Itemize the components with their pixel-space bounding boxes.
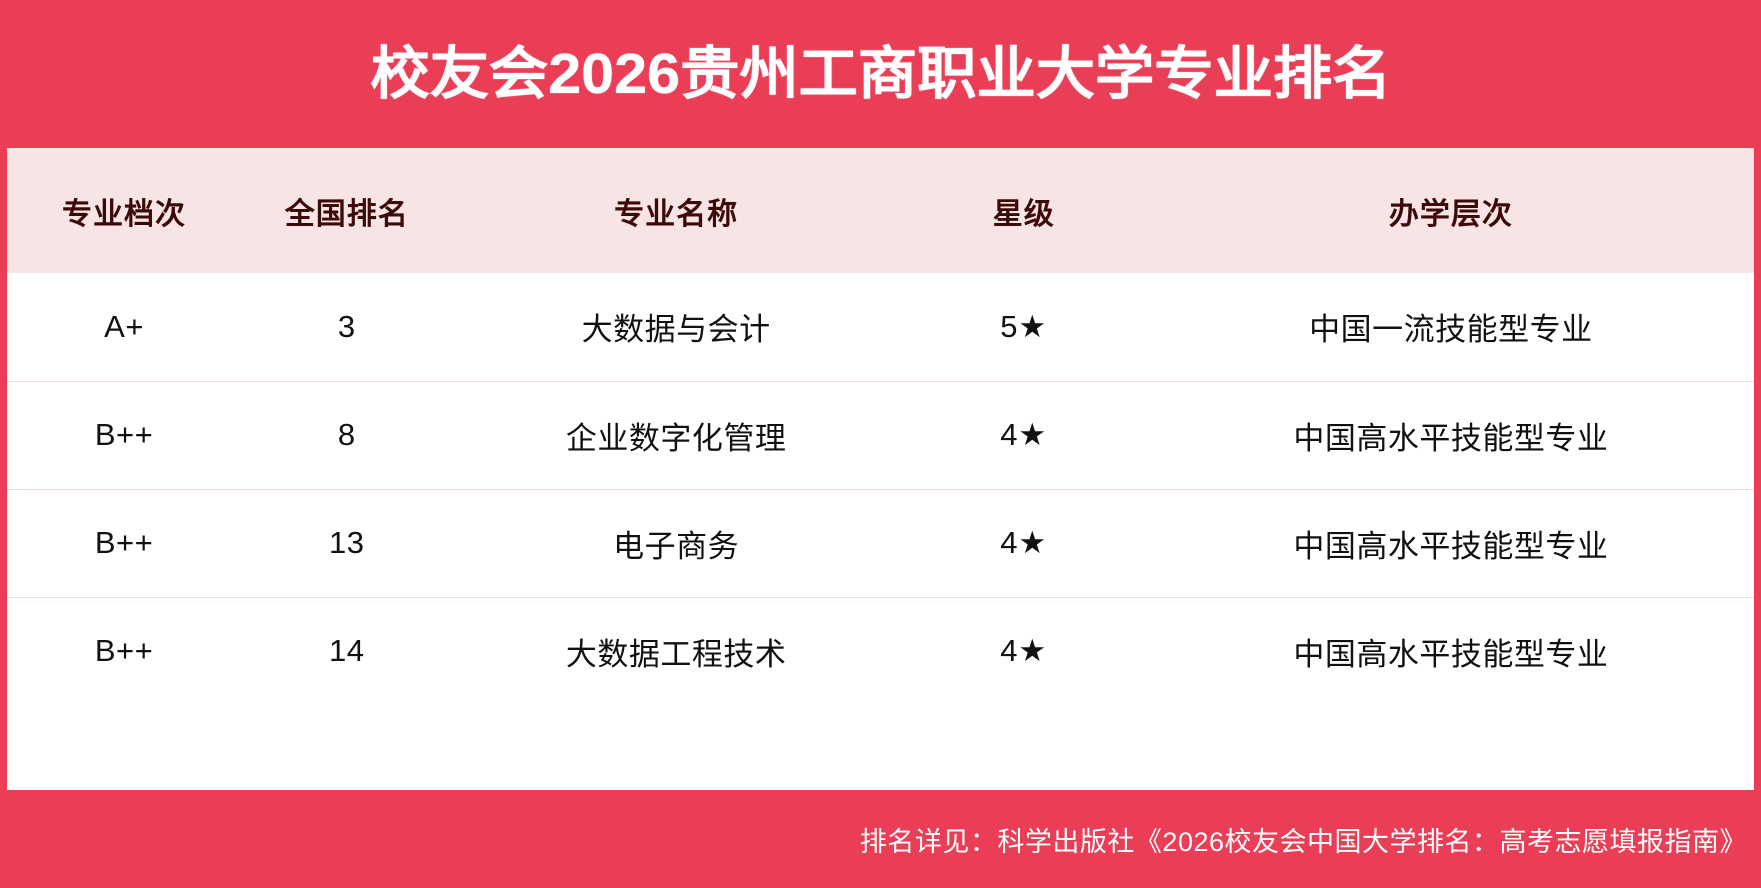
table-row: A+ 3 大数据与会计 5★ 中国一流技能型专业 — [7, 273, 1754, 381]
cell-rank: 3 — [241, 273, 452, 381]
cell-tier: B++ — [7, 597, 241, 705]
ranking-table-container: 专业档次 全国排名 专业名称 星级 办学层次 A+ 3 大数据与会计 5★ 中国… — [7, 148, 1754, 790]
cell-level: 中国高水平技能型专业 — [1148, 597, 1754, 705]
table-row: B++ 8 企业数字化管理 4★ 中国高水平技能型专业 — [7, 381, 1754, 489]
cell-name: 电子商务 — [452, 489, 899, 597]
table-header-row: 专业档次 全国排名 专业名称 星级 办学层次 — [7, 148, 1754, 273]
cell-tier: A+ — [7, 273, 241, 381]
table-row: B++ 13 电子商务 4★ 中国高水平技能型专业 — [7, 489, 1754, 597]
table-header: 专业档次 全国排名 专业名称 星级 办学层次 — [7, 148, 1754, 273]
cell-tier: B++ — [7, 381, 241, 489]
column-header-tier: 专业档次 — [7, 148, 241, 273]
column-header-level: 办学层次 — [1148, 148, 1754, 273]
ranking-poster: 校友会2026贵州工商职业大学专业排名 专业档次 全国排名 专业名称 星级 办学… — [0, 0, 1761, 888]
column-header-rank: 全国排名 — [241, 148, 452, 273]
cell-rank: 13 — [241, 489, 452, 597]
cell-star: 5★ — [900, 273, 1148, 381]
page-title: 校友会2026贵州工商职业大学专业排名 — [370, 46, 1391, 103]
table-body: A+ 3 大数据与会计 5★ 中国一流技能型专业 B++ 8 企业数字化管理 4… — [7, 273, 1754, 705]
ranking-table: 专业档次 全国排名 专业名称 星级 办学层次 A+ 3 大数据与会计 5★ 中国… — [7, 148, 1754, 705]
cell-level: 中国高水平技能型专业 — [1148, 489, 1754, 597]
cell-rank: 8 — [241, 381, 452, 489]
cell-level: 中国一流技能型专业 — [1148, 273, 1754, 381]
cell-rank: 14 — [241, 597, 452, 705]
column-header-name: 专业名称 — [452, 148, 899, 273]
table-row: B++ 14 大数据工程技术 4★ 中国高水平技能型专业 — [7, 597, 1754, 705]
title-banner: 校友会2026贵州工商职业大学专业排名 — [0, 0, 1761, 148]
cell-name: 企业数字化管理 — [452, 381, 899, 489]
cell-name: 大数据与会计 — [452, 273, 899, 381]
cell-star: 4★ — [900, 489, 1148, 597]
cell-star: 4★ — [900, 597, 1148, 705]
cell-tier: B++ — [7, 489, 241, 597]
cell-level: 中国高水平技能型专业 — [1148, 381, 1754, 489]
cell-star: 4★ — [900, 381, 1148, 489]
column-header-star: 星级 — [900, 148, 1148, 273]
source-note: 排名详见：科学出版社《2026校友会中国大学排名：高考志愿填报指南》 — [860, 820, 1747, 859]
cell-name: 大数据工程技术 — [452, 597, 899, 705]
footer-bar: 排名详见：科学出版社《2026校友会中国大学排名：高考志愿填报指南》 — [0, 790, 1761, 888]
